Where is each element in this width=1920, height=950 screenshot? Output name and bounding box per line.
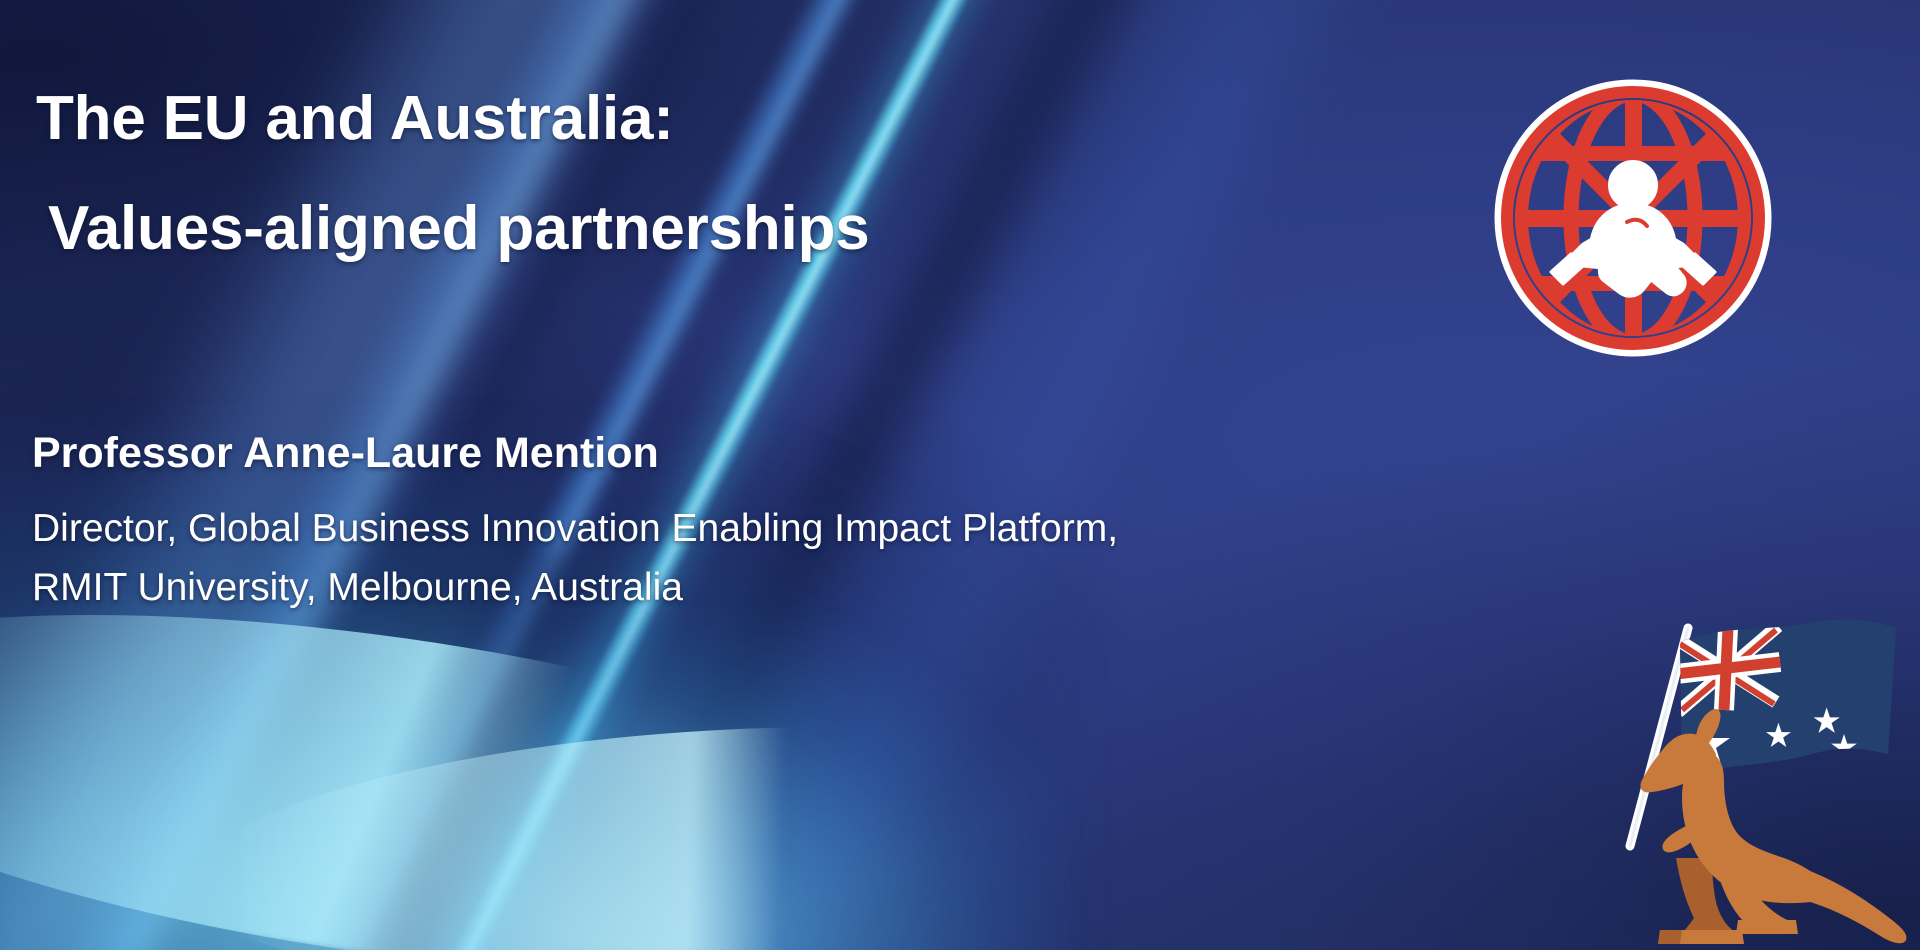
presenter-affiliation-line-1: Director, Global Business Innovation Ena…	[32, 509, 1118, 548]
presenter-name: Professor Anne-Laure Mention	[32, 432, 659, 475]
slide-title-line-2: Values-aligned partnerships	[48, 198, 870, 260]
slide-title-line-1: The EU and Australia:	[36, 88, 674, 150]
slide-text-layer: The EU and Australia: Values-aligned par…	[0, 0, 1920, 950]
title-slide: The EU and Australia: Values-aligned par…	[0, 0, 1920, 950]
presenter-affiliation-line-2: RMIT University, Melbourne, Australia	[32, 568, 683, 607]
